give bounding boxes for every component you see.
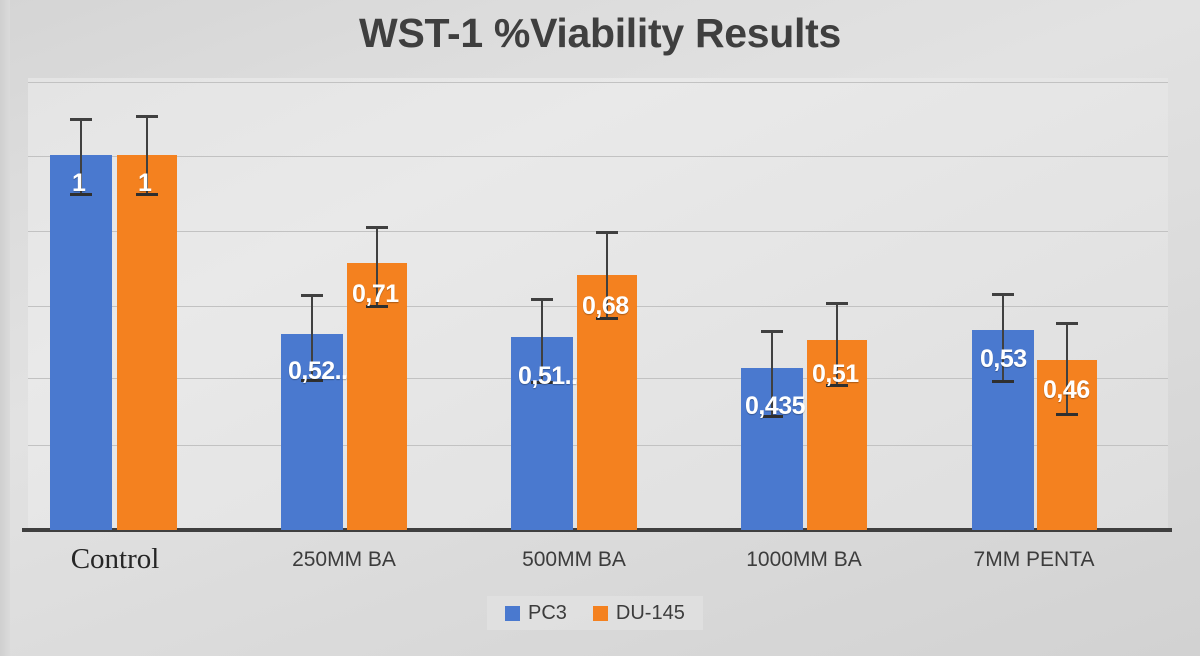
errorbar-cap-lower-7mm-penta-pc3 xyxy=(992,380,1014,383)
legend-item-du145[interactable]: DU-145 xyxy=(593,602,685,625)
errorbar-cap-upper-control-pc3 xyxy=(70,118,92,121)
bar-control-du145[interactable] xyxy=(117,155,177,530)
legend-swatch-pc3-icon xyxy=(505,606,520,621)
bar-value-500mm-ba-du145: 0,68 xyxy=(582,292,629,321)
errorbar-cap-upper-250mm-ba-du145 xyxy=(366,226,388,229)
bar-value-7mm-penta-du145: 0,46 xyxy=(1043,376,1090,405)
bar-control-pc3[interactable] xyxy=(50,155,112,530)
category-label-500mm-ba: 500MM BA xyxy=(489,548,659,572)
errorbar-cap-upper-500mm-ba-pc3 xyxy=(531,298,553,301)
legend-label-du145: DU-145 xyxy=(616,602,685,625)
errorbar-cap-upper-250mm-ba-pc3 xyxy=(301,294,323,297)
bar-value-7mm-penta-pc3: 0,53 xyxy=(980,345,1027,374)
category-label-1000mm-ba: 1000MM BA xyxy=(719,548,889,572)
bar-value-1000mm-ba-pc3: 0,435 xyxy=(745,392,805,421)
errorbar-cap-upper-1000mm-ba-du145 xyxy=(826,302,848,305)
category-label-7mm-penta: 7MM PENTA xyxy=(949,548,1119,572)
bar-value-500mm-ba-pc3: 0,51... xyxy=(518,362,584,391)
bar-value-1000mm-ba-du145: 0,51 xyxy=(812,360,859,389)
errorbar-cap-lower-7mm-penta-du145 xyxy=(1056,413,1078,416)
bar-value-250mm-ba-du145: 0,71 xyxy=(352,280,399,309)
errorbar-cap-upper-7mm-penta-du145 xyxy=(1056,322,1078,325)
chart-legend: PC3 DU-145 xyxy=(487,596,703,630)
category-label-control: Control xyxy=(30,543,200,576)
category-label-250mm-ba: 250MM BA xyxy=(259,548,429,572)
legend-label-pc3: PC3 xyxy=(528,602,567,625)
errorbar-cap-upper-1000mm-ba-pc3 xyxy=(761,330,783,333)
legend-swatch-du145-icon xyxy=(593,606,608,621)
errorbar-cap-upper-control-du145 xyxy=(136,115,158,118)
errorbar-cap-upper-500mm-ba-du145 xyxy=(596,231,618,234)
legend-item-pc3[interactable]: PC3 xyxy=(505,602,567,625)
bar-value-control-du145: 1 xyxy=(138,169,151,198)
chart-container: WST-1 %Viability Results 1 1 0,52... 0,7… xyxy=(0,0,1200,656)
bar-value-250mm-ba-pc3: 0,52... xyxy=(288,357,354,386)
errorbar-cap-upper-7mm-penta-pc3 xyxy=(992,293,1014,296)
bar-value-control-pc3: 1 xyxy=(72,169,85,198)
